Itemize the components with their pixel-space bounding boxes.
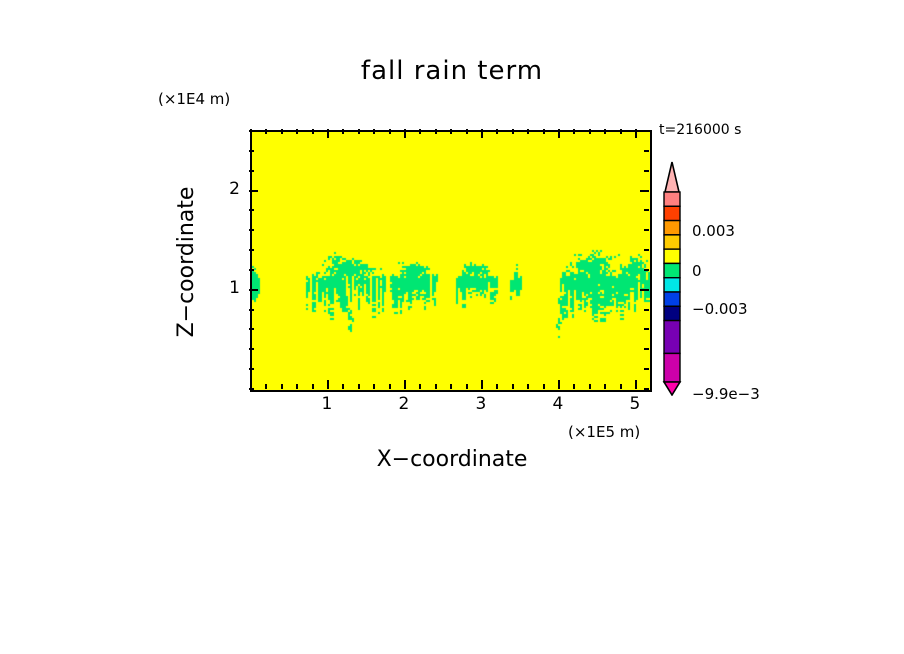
y-tick-label: 1 bbox=[214, 278, 240, 298]
x-minor-tick-top bbox=[543, 129, 545, 134]
x-minor-tick bbox=[466, 384, 468, 389]
x-minor-tick-top bbox=[296, 129, 298, 134]
x-major-tick bbox=[635, 380, 637, 389]
y-minor-tick-right bbox=[644, 328, 649, 330]
x-minor-tick-top bbox=[312, 129, 314, 134]
x-tick-label: 5 bbox=[620, 394, 650, 414]
page-title: fall rain term bbox=[0, 56, 904, 86]
x-major-tick bbox=[327, 380, 329, 389]
y-minor-tick-right bbox=[644, 229, 649, 231]
colorbar-tick-label: −9.9e−3 bbox=[692, 385, 760, 403]
x-minor-tick-top bbox=[604, 129, 606, 134]
y-axis-title: Z−coordinate bbox=[174, 0, 199, 172]
x-minor-tick-top bbox=[419, 129, 421, 134]
plot-area bbox=[250, 130, 652, 392]
figure-canvas: fall rain term (×1E4 m) t=216000 s 12345… bbox=[0, 0, 904, 654]
x-minor-tick bbox=[281, 384, 283, 389]
colorbar-band bbox=[664, 235, 680, 249]
colorbar-overflow-arrow bbox=[665, 162, 679, 192]
x-minor-tick-top bbox=[342, 129, 344, 134]
x-minor-tick-top bbox=[435, 129, 437, 134]
colorbar-band bbox=[664, 353, 680, 382]
colorbar-band bbox=[664, 192, 680, 206]
x-minor-tick bbox=[543, 384, 545, 389]
x-minor-tick-top bbox=[466, 129, 468, 134]
y-minor-tick bbox=[249, 130, 254, 132]
y-minor-tick-right bbox=[644, 249, 649, 251]
x-minor-tick-top bbox=[573, 129, 575, 134]
colorbar-band bbox=[664, 206, 680, 220]
y-minor-tick-right bbox=[644, 388, 649, 390]
colorbar-band bbox=[664, 321, 680, 354]
y-axis-title-text: Z−coordinate bbox=[174, 172, 199, 352]
colorbar bbox=[661, 160, 683, 396]
x-minor-tick-top bbox=[450, 129, 452, 134]
y-minor-tick bbox=[249, 328, 254, 330]
y-minor-tick bbox=[249, 368, 254, 370]
y-minor-tick bbox=[249, 209, 254, 211]
x-minor-tick-top bbox=[265, 129, 267, 134]
x-major-tick bbox=[404, 380, 406, 389]
y-minor-tick bbox=[249, 309, 254, 311]
x-minor-tick bbox=[389, 384, 391, 389]
x-tick-label: 1 bbox=[312, 394, 342, 414]
y-minor-tick-right bbox=[644, 150, 649, 152]
colorbar-band bbox=[664, 263, 680, 277]
x-tick-label: 4 bbox=[543, 394, 573, 414]
x-minor-tick bbox=[265, 384, 267, 389]
colorbar-band bbox=[664, 292, 680, 306]
x-minor-tick bbox=[604, 384, 606, 389]
heatmap-data-layer bbox=[252, 132, 650, 390]
x-major-tick-top bbox=[558, 129, 560, 138]
y-minor-tick-right bbox=[644, 348, 649, 350]
x-minor-tick bbox=[527, 384, 529, 389]
colorbar-band bbox=[664, 278, 680, 292]
y-minor-tick bbox=[249, 348, 254, 350]
colorbar-tick-label: 0.003 bbox=[692, 222, 735, 240]
x-minor-tick-top bbox=[589, 129, 591, 134]
x-minor-tick-top bbox=[496, 129, 498, 134]
y-minor-tick bbox=[249, 170, 254, 172]
y-major-tick bbox=[249, 190, 258, 192]
x-minor-tick bbox=[312, 384, 314, 389]
x-major-tick-top bbox=[404, 129, 406, 138]
x-minor-tick bbox=[450, 384, 452, 389]
y-minor-tick bbox=[249, 249, 254, 251]
x-minor-tick bbox=[296, 384, 298, 389]
x-minor-tick bbox=[573, 384, 575, 389]
y-minor-tick bbox=[249, 388, 254, 390]
x-minor-tick-top bbox=[389, 129, 391, 134]
y-tick-label: 2 bbox=[214, 179, 240, 199]
x-major-tick bbox=[558, 380, 560, 389]
x-minor-tick bbox=[419, 384, 421, 389]
x-minor-tick bbox=[620, 384, 622, 389]
y-minor-tick-right bbox=[644, 170, 649, 172]
colorbar-tick-label: −0.003 bbox=[692, 300, 748, 318]
x-minor-tick bbox=[589, 384, 591, 389]
y-minor-tick-right bbox=[644, 130, 649, 132]
x-minor-tick-top bbox=[281, 129, 283, 134]
colorbar-band bbox=[664, 306, 680, 320]
colorbar-band bbox=[664, 221, 680, 235]
y-major-tick-right bbox=[640, 289, 649, 291]
colorbar-band bbox=[664, 249, 680, 263]
x-minor-tick bbox=[496, 384, 498, 389]
x-major-tick-top bbox=[481, 129, 483, 138]
x-minor-tick-top bbox=[358, 129, 360, 134]
x-major-tick-top bbox=[635, 129, 637, 138]
x-minor-tick bbox=[342, 384, 344, 389]
y-minor-tick bbox=[249, 269, 254, 271]
x-minor-tick bbox=[512, 384, 514, 389]
y-minor-tick-right bbox=[644, 209, 649, 211]
x-minor-tick bbox=[435, 384, 437, 389]
y-major-tick bbox=[249, 289, 258, 291]
colorbar-underflow-arrow bbox=[664, 382, 680, 395]
y-minor-tick bbox=[249, 229, 254, 231]
x-minor-tick-top bbox=[373, 129, 375, 134]
y-minor-tick-right bbox=[644, 269, 649, 271]
x-tick-label: 2 bbox=[389, 394, 419, 414]
x-minor-tick-top bbox=[512, 129, 514, 134]
x-axis-title: X−coordinate bbox=[0, 447, 904, 472]
y-minor-tick-right bbox=[644, 309, 649, 311]
y-major-tick-right bbox=[640, 190, 649, 192]
colorbar-gradient bbox=[661, 160, 683, 396]
y-minor-tick bbox=[249, 150, 254, 152]
colorbar-tick-label: 0 bbox=[692, 262, 702, 280]
y-minor-tick-right bbox=[644, 368, 649, 370]
x-minor-tick bbox=[373, 384, 375, 389]
time-annotation: t=216000 s bbox=[659, 122, 741, 138]
x-major-tick bbox=[481, 380, 483, 389]
x-minor-tick-top bbox=[620, 129, 622, 134]
x-minor-tick-top bbox=[527, 129, 529, 134]
x-tick-label: 3 bbox=[466, 394, 496, 414]
x-minor-tick bbox=[358, 384, 360, 389]
x-major-tick-top bbox=[327, 129, 329, 138]
x-axis-units-label: (×1E5 m) bbox=[568, 423, 640, 441]
